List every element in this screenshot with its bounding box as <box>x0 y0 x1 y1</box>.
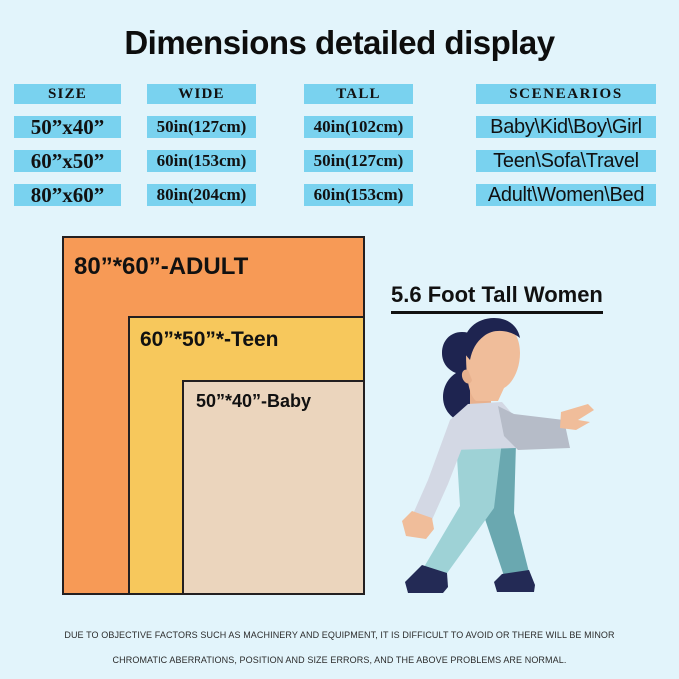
woman-back-shoe <box>494 570 535 592</box>
size-rect-baby <box>182 380 365 595</box>
walking-woman-svg <box>398 308 598 600</box>
size-rect-label-adult: 80”*60”-ADULT <box>74 253 248 281</box>
disclaimer-line-2: CHROMATIC ABERRATIONS, POSITION AND SIZE… <box>0 648 679 673</box>
woman-front-hand <box>560 404 594 430</box>
size-rect-label-baby: 50”*40”-Baby <box>196 391 311 412</box>
disclaimer-line-1: DUE TO OBJECTIVE FACTORS SUCH AS MACHINE… <box>0 623 679 648</box>
walking-woman-illustration <box>398 308 598 600</box>
disclaimer-text: DUE TO OBJECTIVE FACTORS SUCH AS MACHINE… <box>0 623 679 673</box>
infographic-root: Dimensions detailed display SIZE 50”x40”… <box>0 0 679 679</box>
size-rect-label-teen: 60”*50”*-Teen <box>140 328 279 352</box>
